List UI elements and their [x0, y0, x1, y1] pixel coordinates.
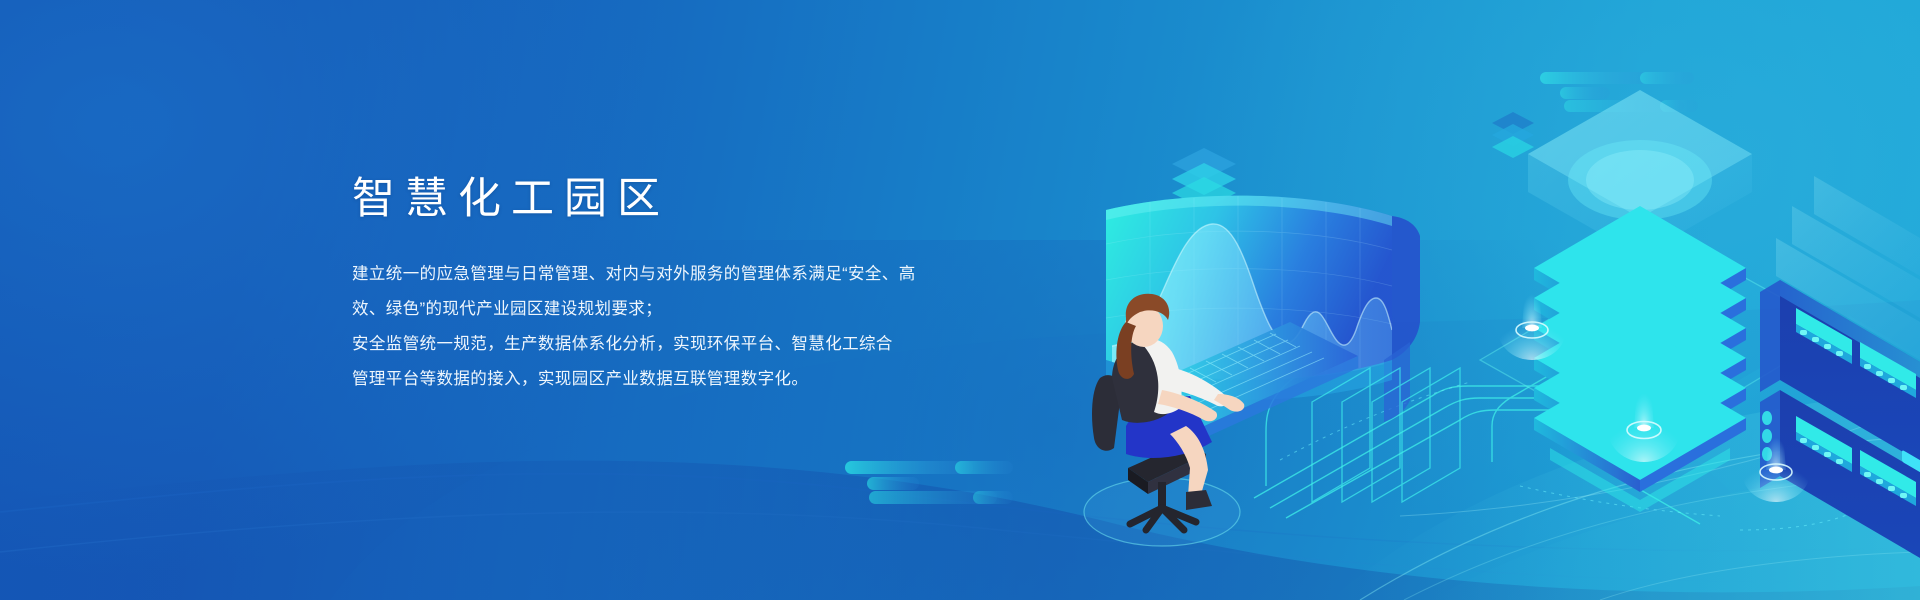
cloud-left-icon	[845, 455, 1055, 510]
description-line-3: 安全监管统一规范，生产数据体系化分析，实现环保平台、智慧化工综合	[352, 327, 1072, 362]
description-line-1: 建立统一的应急管理与日常管理、对内与对外服务的管理体系满足“安全、高	[352, 257, 1072, 292]
illustration-svg	[1040, 30, 1920, 570]
page-title: 智慧化工园区	[352, 176, 1072, 223]
description-line-4: 管理平台等数据的接入，实现园区产业数据互联管理数字化。	[352, 362, 1072, 397]
falling-data-streams-rack	[1830, 34, 1882, 146]
banner-description: 建立统一的应急管理与日常管理、对内与对外服务的管理体系满足“安全、高 效、绿色”…	[352, 257, 1072, 397]
hero-banner: 智慧化工园区 建立统一的应急管理与日常管理、对内与对外服务的管理体系满足“安全、…	[0, 0, 1920, 600]
smart-park-illustration	[1040, 30, 1920, 570]
banner-copy: 智慧化工园区 建立统一的应急管理与日常管理、对内与对外服务的管理体系满足“安全、…	[352, 176, 1072, 397]
description-line-2: 效、绿色”的现代产业园区建设规划要求；	[352, 292, 1072, 327]
